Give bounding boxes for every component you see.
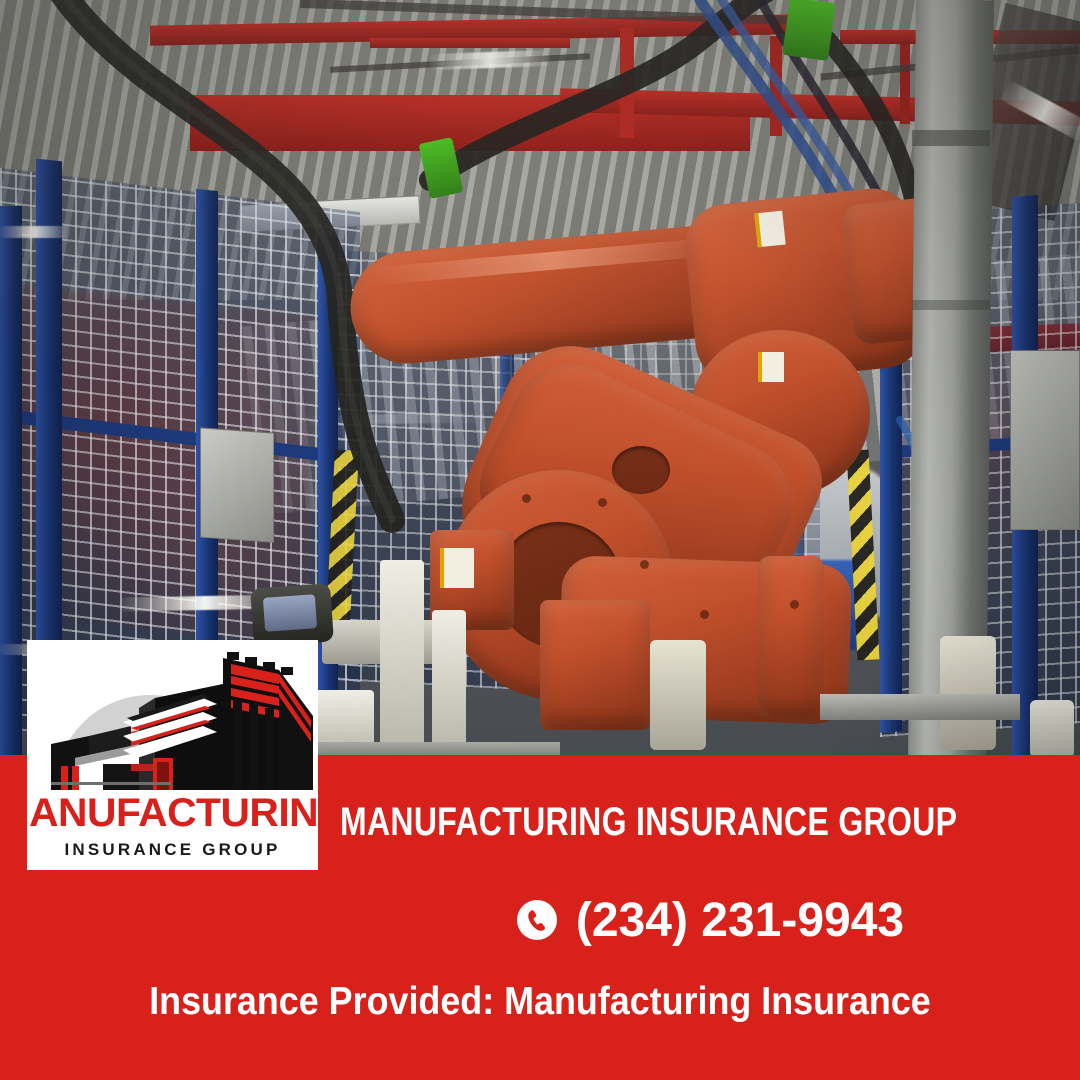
promo-card: MANUFACTURING INSURANCE GROUP MANUFACTUR… xyxy=(0,0,1080,1080)
logo-wordmark: MANUFACTURING xyxy=(27,790,318,836)
factory-building-logo-icon xyxy=(27,640,318,790)
company-logo-card: MANUFACTURING INSURANCE GROUP xyxy=(27,640,318,870)
phone-number[interactable]: (234) 231-9943 xyxy=(576,893,904,948)
phone-row[interactable]: (234) 231-9943 xyxy=(340,888,1080,952)
company-name: MANUFACTURING INSURANCE GROUP xyxy=(340,795,932,849)
logo-subtext: INSURANCE GROUP xyxy=(27,836,318,864)
insurance-provided-line: Insurance Provided: Manufacturing Insura… xyxy=(43,975,1037,1029)
phone-icon xyxy=(516,899,558,941)
